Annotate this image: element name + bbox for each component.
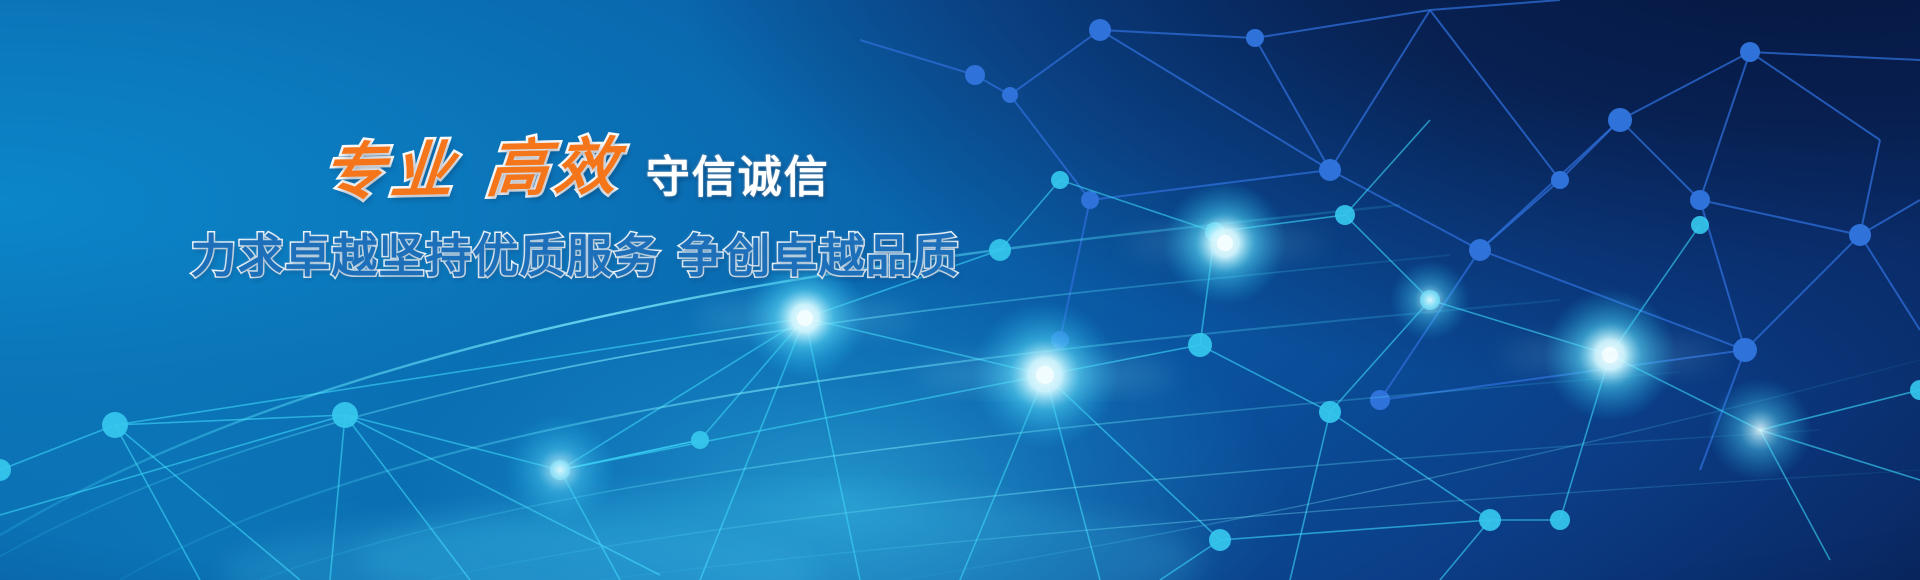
- headline-plain-text: 守信诚信: [646, 156, 830, 204]
- hero-banner: 专业 高效 守信诚信 力求卓越坚持优质服务 争创卓越品质: [0, 0, 1920, 580]
- background-vignette: [0, 0, 1920, 580]
- banner-text-block: 专业 高效 守信诚信 力求卓越坚持优质服务 争创卓越品质: [0, 132, 1150, 286]
- banner-subline: 力求卓越坚持优质服务 争创卓越品质: [0, 220, 1150, 286]
- banner-headline: 专业 高效 守信诚信: [0, 132, 1150, 204]
- headline-accent-text: 专业 高效: [320, 135, 651, 204]
